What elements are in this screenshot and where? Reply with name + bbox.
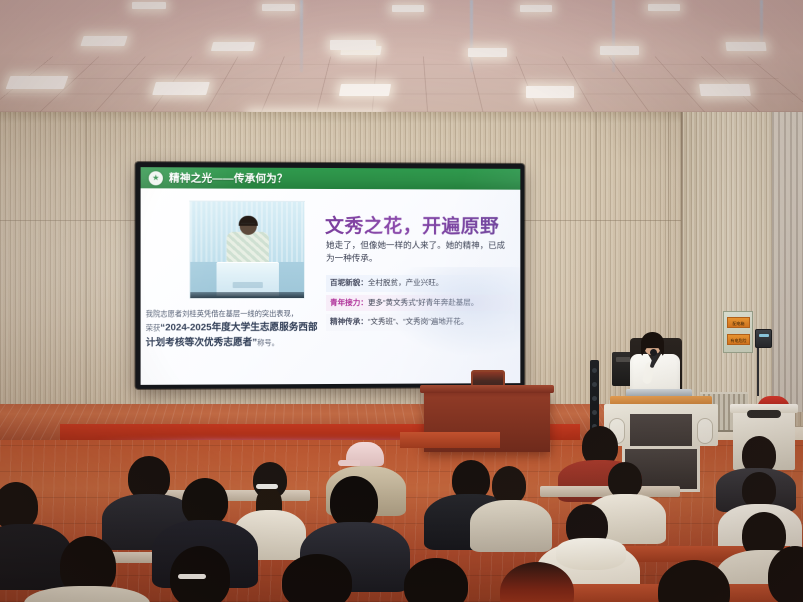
electrical-label-top: 配电箱 [727, 317, 750, 328]
audience-head [404, 558, 468, 602]
ceiling-panel-light [6, 76, 69, 89]
microphone-head-icon [650, 349, 657, 356]
slide-overlay-note: 我院志愿者刘桂英凭借在基层一线的突出表现， 荣获“2024-2025年度大学生志… [146, 309, 327, 351]
overlay-note-highlight: “2024-2025年度大学生志愿服务西部计划考核等次优秀志愿者” [146, 322, 318, 348]
slide-bullet: 百坭新貌：全村脱贫，产业兴旺。 [326, 275, 514, 292]
audience-head [330, 476, 378, 528]
photo-podium-logo [232, 282, 262, 288]
alarm-indicator-icon [759, 334, 769, 337]
bullet-label: 精神传承： [330, 317, 368, 326]
bullet-label: 百坭新貌： [330, 278, 368, 287]
ceiling-rail [612, 0, 615, 72]
bullet-text: “文秀班”、“文秀岗”遍地开花。 [368, 317, 468, 326]
overlay-note-line1: 我院志愿者刘桂英凭借在基层一线的突出表现， [146, 309, 327, 320]
ceiling-rail [300, 0, 303, 72]
slide-body: 文秀之花，开遍原野 她走了，但像她一样的人来了。她的精神，已成为一种传承。 百坭… [141, 188, 521, 385]
overlay-note-prefix: 荣获 [146, 323, 161, 332]
ceiling-panel-light [152, 82, 210, 95]
slide-bullet: 青年接力：更多“黄文秀式”好青年奔赴基层。 [326, 294, 514, 311]
audience-shoulders [470, 500, 552, 552]
window-curtain [772, 112, 803, 412]
slide-inset-photo [189, 201, 305, 300]
ceiling-panel-light [132, 2, 166, 9]
bullet-label: 青年接力： [330, 298, 368, 307]
ceiling-panel-light [80, 36, 127, 46]
ceiling-panel-light [699, 84, 751, 96]
ceiling-panel-light [725, 42, 766, 51]
audience-desk [400, 432, 500, 448]
overlay-note-line2: 荣获“2024-2025年度大学生志愿服务西部计划考核等次优秀志愿者”称号。 [146, 321, 327, 351]
ceiling-panel-light [468, 48, 507, 57]
ceiling [0, 0, 803, 118]
hanging-cable [757, 348, 759, 396]
lecture-hall-scene: ★ 精神之光——传承何为？ 文秀之花，开遍原野 她走了，但像她一样的人来了。她的 [0, 0, 803, 602]
glasses-icon [240, 223, 254, 226]
projection-screen[interactable]: ★ 精神之光——传承何为？ 文秀之花，开遍原野 她走了，但像她一样的人来了。她的 [136, 162, 525, 389]
bullet-text: 更多“黄文秀式”好青年奔赴基层。 [368, 297, 478, 306]
cap-brim [338, 460, 360, 466]
ceiling-tile-grid [0, 56, 803, 118]
slide-bullet-list: 百坭新貌：全村脱贫，产业兴旺。 青年接力：更多“黄文秀式”好青年奔赴基层。 精神… [326, 275, 514, 334]
audience [0, 420, 803, 602]
ceiling-rail [470, 0, 473, 72]
audience-head [492, 466, 526, 504]
audience-head [608, 462, 642, 498]
audience-head [0, 482, 38, 530]
ceiling-panel-light [330, 40, 376, 50]
slide-subtitle: 她走了，但像她一样的人来了。她的精神，已成为一种传承。 [326, 239, 507, 266]
photo-foreground-strip [190, 292, 304, 298]
audience-head [282, 554, 352, 602]
audience-head [742, 472, 776, 508]
ceiling-panel-light [526, 86, 574, 98]
ceiling-panel-light [211, 42, 255, 51]
slide-header-bar: ★ 精神之光——传承何为？ [141, 167, 521, 190]
ceiling-panel-light [600, 46, 639, 55]
ceiling-panel-light [648, 4, 680, 11]
fur-collar [556, 538, 626, 570]
slide-bullet: 精神传承：“文秀班”、“文秀岗”遍地开花。 [326, 314, 514, 331]
overlay-note-suffix: 称号。 [257, 338, 279, 347]
ceiling-panel-light [392, 5, 424, 12]
cabinet-dark-plate [747, 410, 781, 418]
desk-top-surface [420, 385, 554, 393]
ceiling-panel-light [262, 4, 295, 11]
audience-head [182, 478, 228, 526]
ceiling-panel-light [520, 5, 552, 12]
hair-tie [256, 484, 278, 489]
slide-title: 精神之光——传承何为？ [169, 170, 288, 186]
wall-alarm-unit[interactable] [755, 329, 772, 348]
photo-podium [216, 262, 278, 296]
bullet-text: 全村脱贫，产业兴旺。 [368, 278, 443, 287]
ceiling-panel-light [339, 84, 391, 96]
shield-badge-icon: ★ [149, 171, 163, 185]
hair-tie [178, 574, 206, 579]
slide-heading: 文秀之花，开遍原野 [325, 211, 499, 238]
presentation-slide: ★ 精神之光——传承何为？ 文秀之花，开遍原野 她走了，但像她一样的人来了。她的 [141, 167, 521, 385]
